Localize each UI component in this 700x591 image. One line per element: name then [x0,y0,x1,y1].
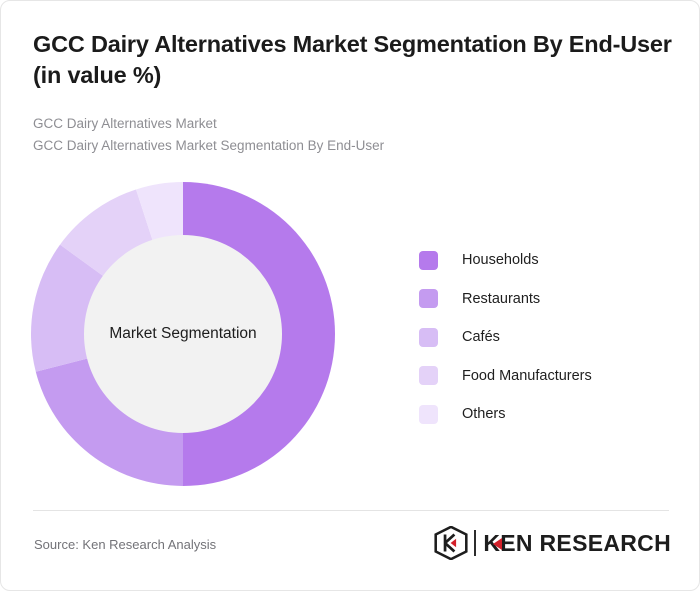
legend-item[interactable]: Cafés [419,318,669,357]
donut-hole [84,235,282,433]
chart-legend: HouseholdsRestaurantsCafésFood Manufactu… [419,241,669,434]
legend-label: Cafés [462,329,500,345]
legend-label: Households [462,252,539,268]
chart-card: GCC Dairy Alternatives Market Segmentati… [0,0,700,591]
legend-item[interactable]: Restaurants [419,280,669,319]
donut-chart: Market Segmentation [31,182,335,486]
legend-swatch-icon [419,405,438,424]
brand-logo: KEN RESEARCH [434,525,671,561]
subtitle-market: GCC Dairy Alternatives Market [33,113,653,135]
brand-divider [474,530,476,556]
legend-swatch-icon [419,366,438,385]
subtitle-block: GCC Dairy Alternatives Market GCC Dairy … [33,113,653,157]
footer-divider [33,510,669,511]
page-title: GCC Dairy Alternatives Market Segmentati… [33,29,673,92]
legend-item[interactable]: Others [419,395,669,434]
legend-label: Food Manufacturers [462,368,592,384]
ken-research-mark-icon [434,526,468,560]
brand-name: KEN RESEARCH [483,530,671,557]
legend-item[interactable]: Households [419,241,669,280]
donut-svg [31,182,335,486]
legend-label: Restaurants [462,291,540,307]
brand-name-text: KEN RESEARCH [483,530,671,556]
subtitle-segmentation: GCC Dairy Alternatives Market Segmentati… [33,135,653,157]
card-inner: GCC Dairy Alternatives Market Segmentati… [1,1,700,591]
legend-item[interactable]: Food Manufacturers [419,357,669,396]
legend-swatch-icon [419,328,438,347]
legend-swatch-icon [419,289,438,308]
source-note: Source: Ken Research Analysis [34,537,216,552]
legend-label: Others [462,406,506,422]
chart-area: Market Segmentation HouseholdsRestaurant… [1,161,700,501]
brand-k-accent-icon [493,538,502,550]
legend-swatch-icon [419,251,438,270]
